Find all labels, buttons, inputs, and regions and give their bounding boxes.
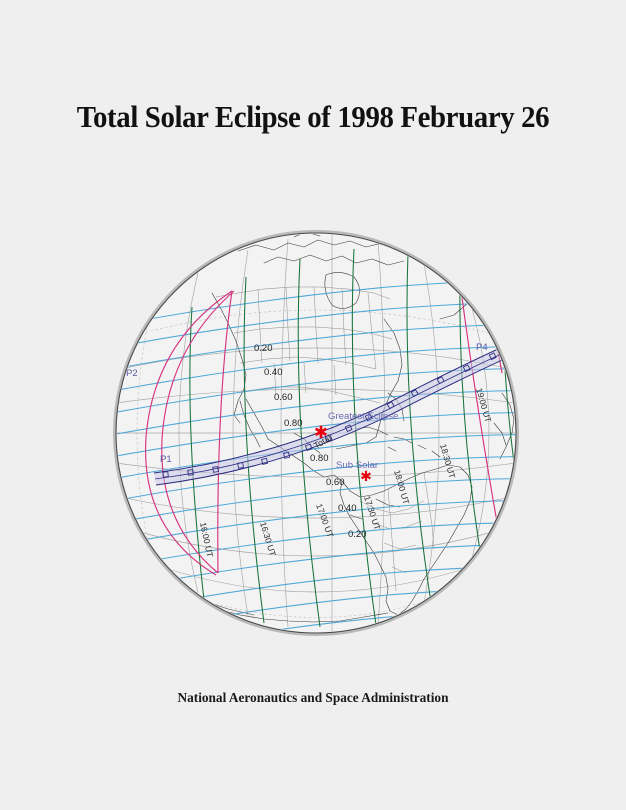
label-magnitude-0-80-north: 0.80 xyxy=(284,418,303,429)
eclipse-globe-map: ✱ ✱ P2 P1 P3 P4 0.20 0.40 0.60 0.80 0.80… xyxy=(88,223,548,643)
label-p1: P1 xyxy=(160,454,172,465)
poster-page: Total Solar Eclipse of 1998 February 26 xyxy=(0,0,626,810)
globe-svg: ✱ ✱ P2 P1 P3 P4 0.20 0.40 0.60 0.80 0.80… xyxy=(88,223,548,643)
label-magnitude-0-60-south: 0.60 xyxy=(326,477,345,488)
label-magnitude-0-20-south: 0.20 xyxy=(348,529,367,540)
label-magnitude-0-80-south: 0.80 xyxy=(310,453,329,464)
label-p4: P4 xyxy=(476,342,488,353)
label-p3: P3 xyxy=(465,272,477,283)
page-title: Total Solar Eclipse of 1998 February 26 xyxy=(22,99,604,135)
label-sub-solar: Sub Solar xyxy=(336,460,379,471)
label-magnitude-0-40-north: 0.40 xyxy=(264,367,283,378)
label-magnitude-0-60-north: 0.60 xyxy=(274,392,293,403)
label-p2: P2 xyxy=(126,368,138,379)
label-magnitude-0-20-north: 0.20 xyxy=(254,343,273,354)
label-greatest-eclipse: Greatest Eclipse xyxy=(328,411,398,422)
agency-caption: National Aeronautics and Space Administr… xyxy=(16,691,611,707)
label-magnitude-0-40-south: 0.40 xyxy=(338,503,357,514)
